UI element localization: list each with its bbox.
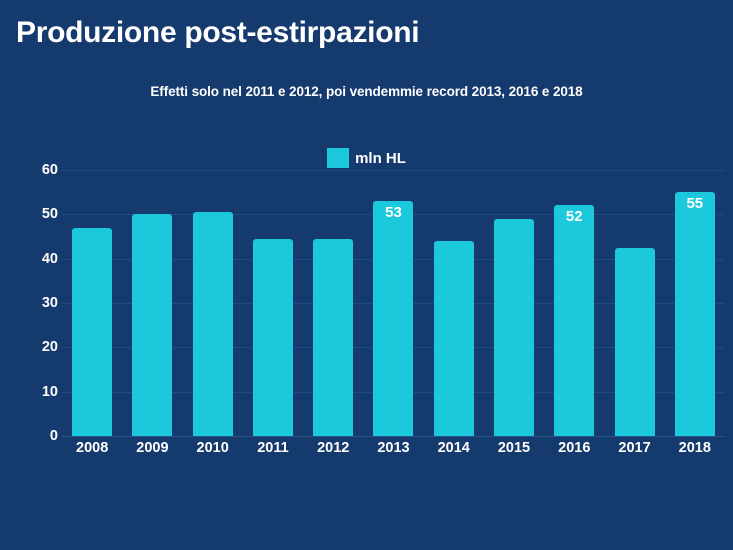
gridline-0 bbox=[62, 436, 725, 437]
bar-slot-2015 bbox=[484, 170, 544, 436]
x-axis-tick-2018: 2018 bbox=[665, 440, 725, 456]
bar-2016[interactable]: 52 bbox=[554, 205, 594, 436]
x-axis-tick-2012: 2012 bbox=[303, 440, 363, 456]
bar-2012[interactable] bbox=[313, 239, 353, 436]
y-axis-tick-0: 0 bbox=[50, 428, 58, 444]
bar-2015[interactable] bbox=[494, 219, 534, 436]
bar-2014[interactable] bbox=[434, 241, 474, 436]
x-axis-tick-2014: 2014 bbox=[424, 440, 484, 456]
x-axis: 2008200920102011201220132014201520162017… bbox=[62, 440, 725, 456]
bar-2018[interactable]: 55 bbox=[675, 192, 715, 436]
page-title: Produzione post-estirpazioni bbox=[16, 16, 419, 50]
bar-value-label-2016: 52 bbox=[554, 208, 594, 225]
legend-color-swatch-icon bbox=[327, 148, 349, 168]
bar-2017[interactable] bbox=[615, 248, 655, 436]
x-axis-tick-2011: 2011 bbox=[243, 440, 303, 456]
bar-2010[interactable] bbox=[193, 212, 233, 436]
y-axis-tick-20: 20 bbox=[42, 339, 58, 355]
bar-slot-2017 bbox=[604, 170, 664, 436]
bar-slot-2014 bbox=[424, 170, 484, 436]
chart-subtitle: Effetti solo nel 2011 e 2012, poi vendem… bbox=[0, 84, 733, 99]
y-axis-tick-40: 40 bbox=[42, 251, 58, 267]
bar-2009[interactable] bbox=[132, 214, 172, 436]
bar-slot-2011 bbox=[243, 170, 303, 436]
y-axis-tick-50: 50 bbox=[42, 206, 58, 222]
bar-2011[interactable] bbox=[253, 239, 293, 436]
y-axis: 0102030405060 bbox=[14, 170, 58, 436]
bar-slot-2016: 52 bbox=[544, 170, 604, 436]
bar-2008[interactable] bbox=[72, 228, 112, 436]
bar-slot-2012 bbox=[303, 170, 363, 436]
bar-value-label-2013: 53 bbox=[373, 204, 413, 221]
x-axis-tick-2015: 2015 bbox=[484, 440, 544, 456]
y-axis-tick-10: 10 bbox=[42, 384, 58, 400]
x-axis-tick-2016: 2016 bbox=[544, 440, 604, 456]
legend-item-mln-hl: mln HL bbox=[327, 148, 406, 168]
plot-area: 0102030405060 535255 2008200920102011201… bbox=[0, 170, 733, 470]
bar-series: 535255 bbox=[62, 170, 725, 436]
bar-slot-2009 bbox=[122, 170, 182, 436]
y-axis-tick-60: 60 bbox=[42, 162, 58, 178]
bar-value-label-2018: 55 bbox=[675, 195, 715, 212]
legend-item-label: mln HL bbox=[355, 150, 406, 167]
x-axis-tick-2017: 2017 bbox=[604, 440, 664, 456]
x-axis-tick-2008: 2008 bbox=[62, 440, 122, 456]
x-axis-tick-2013: 2013 bbox=[363, 440, 423, 456]
chart-slide: Produzione post-estirpazioni Effetti sol… bbox=[0, 0, 733, 550]
y-axis-tick-30: 30 bbox=[42, 295, 58, 311]
x-axis-tick-2010: 2010 bbox=[183, 440, 243, 456]
bar-slot-2013: 53 bbox=[363, 170, 423, 436]
bar-slot-2008 bbox=[62, 170, 122, 436]
bar-2013[interactable]: 53 bbox=[373, 201, 413, 436]
chart-legend: mln HL bbox=[0, 148, 733, 168]
bar-slot-2018: 55 bbox=[665, 170, 725, 436]
x-axis-tick-2009: 2009 bbox=[122, 440, 182, 456]
bar-slot-2010 bbox=[183, 170, 243, 436]
